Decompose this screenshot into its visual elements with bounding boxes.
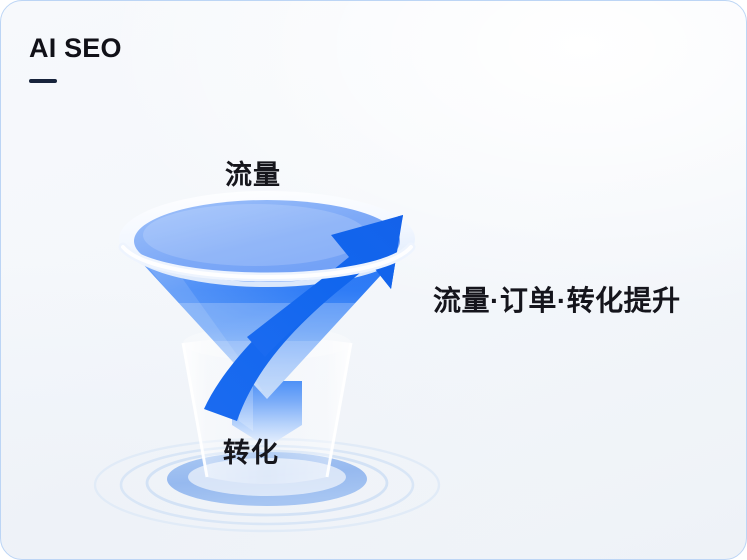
label-traffic: 流量 <box>225 153 281 192</box>
headline-text: 流量·订单·转化提升 <box>433 279 681 319</box>
title-underline-rule <box>29 79 57 83</box>
label-conversion: 转化 <box>223 431 279 470</box>
page-title: AI SEO <box>29 35 122 62</box>
page-title-block: AI SEO <box>29 35 122 83</box>
seo-funnel-card: AI SEO 流量·订单·转化提升 <box>0 0 747 560</box>
